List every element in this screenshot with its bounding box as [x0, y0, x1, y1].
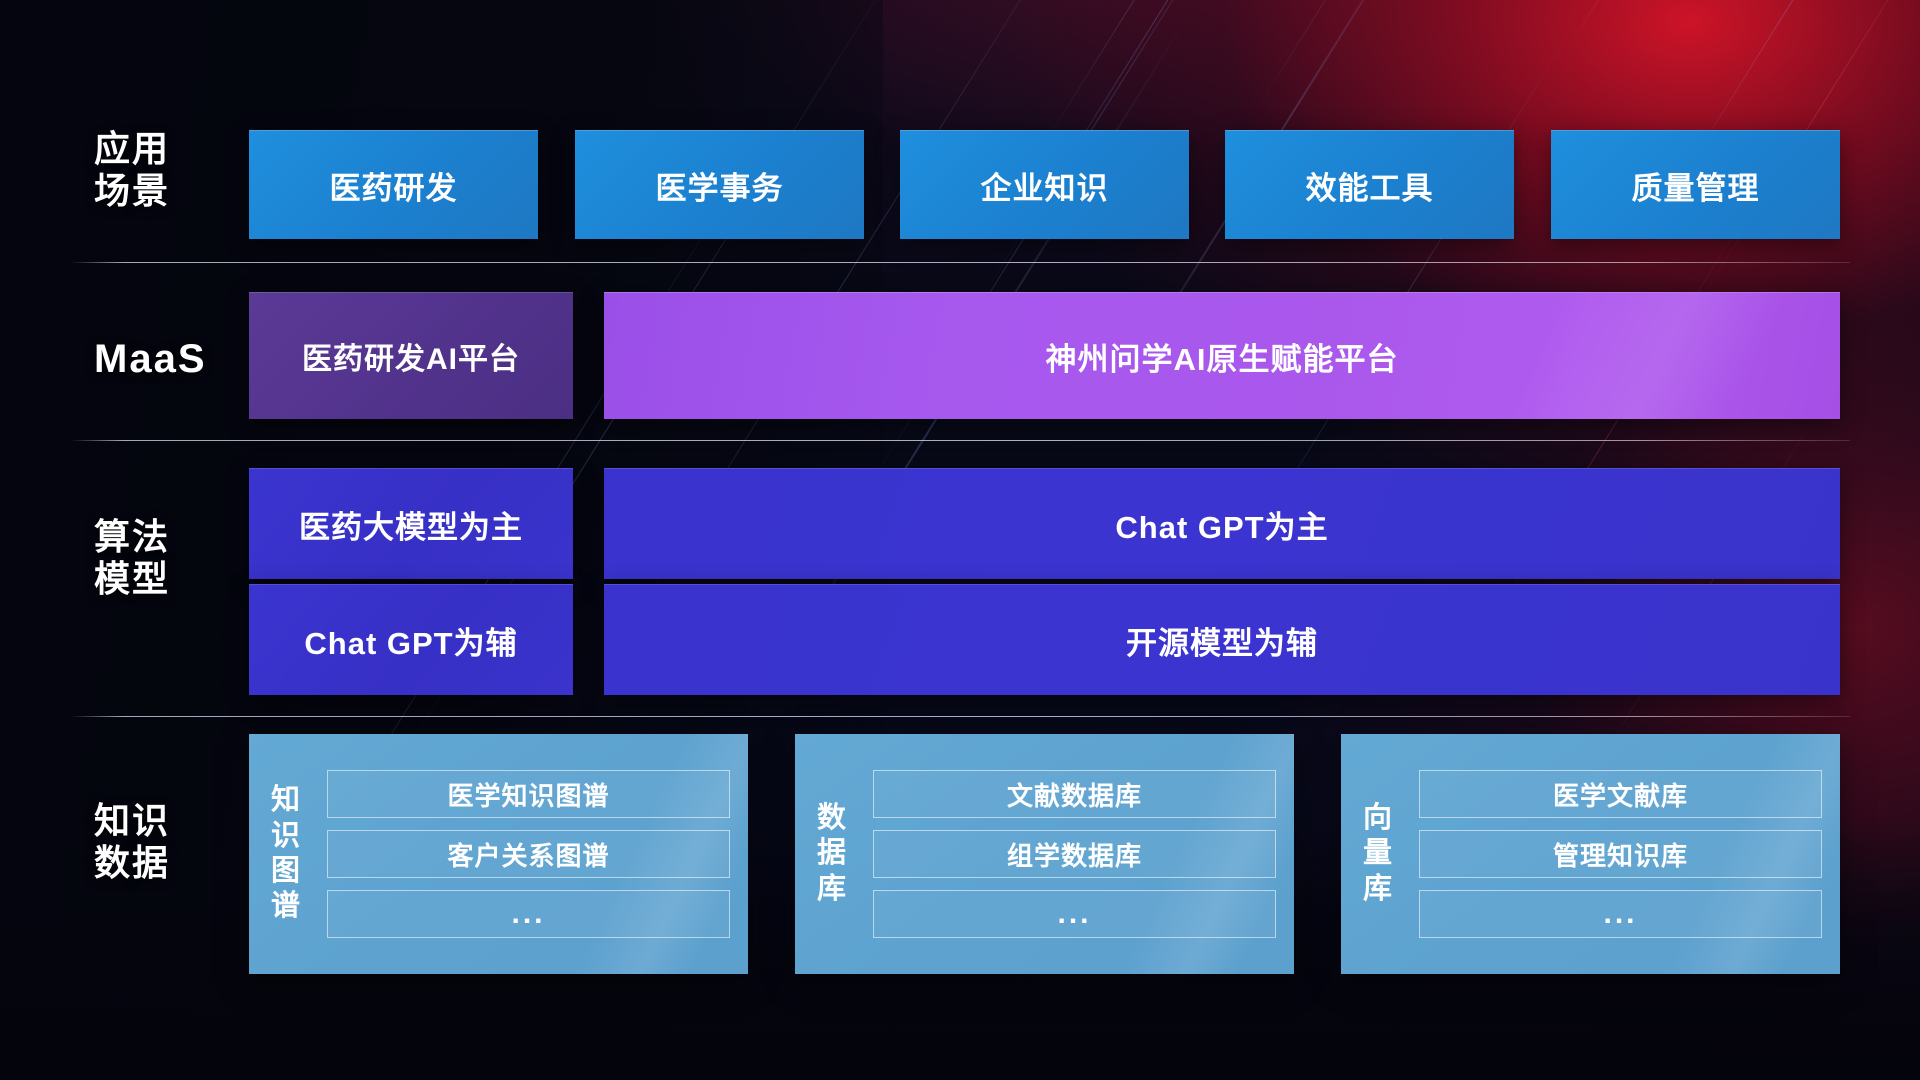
- algo-tile-primary-0[interactable]: 医药大模型为主: [249, 468, 573, 579]
- app-tile-2[interactable]: 企业知识: [900, 130, 1189, 239]
- knowledge-panel-1-item-0[interactable]: 文献数据库: [873, 770, 1276, 818]
- light-streak: [1040, 0, 1338, 151]
- knowledge-panel-database[interactable]: 数据库 文献数据库 组学数据库 ...: [795, 734, 1294, 974]
- divider-after-algorithm: [70, 716, 1850, 717]
- light-streak: [1250, 0, 1622, 121]
- algo-tile-secondary-0[interactable]: Chat GPT为辅: [249, 584, 573, 695]
- knowledge-panel-2-item-2-label: ...: [1603, 897, 1637, 931]
- knowledge-panel-1-items: 文献数据库 组学数据库 ...: [869, 734, 1294, 974]
- knowledge-panel-title-char: 据: [817, 836, 847, 871]
- knowledge-panel-2-title: 向量库: [1341, 734, 1415, 974]
- row-label-algorithm-models: 算法模型: [94, 516, 264, 601]
- knowledge-panel-1-item-2[interactable]: ...: [873, 890, 1276, 938]
- algo-tile-secondary-1[interactable]: 开源模型为辅: [604, 584, 1840, 695]
- algo-tile-primary-0-label: 医药大模型为主: [299, 502, 523, 547]
- algo-tile-secondary-1-label: 开源模型为辅: [1126, 618, 1318, 663]
- app-tile-1-label: 医学事务: [656, 163, 784, 208]
- knowledge-panel-2-item-0[interactable]: 医学文献库: [1419, 770, 1822, 818]
- light-streak: [1320, 0, 1798, 21]
- algo-tile-primary-1-label: Chat GPT为主: [1115, 502, 1328, 547]
- divider-after-application: [70, 262, 1850, 263]
- knowledge-panel-2-item-0-label: 医学文献库: [1553, 776, 1688, 813]
- row-label-line: 数据: [94, 842, 264, 884]
- row-label-line: 知识: [94, 800, 264, 842]
- knowledge-panel-0-item-0[interactable]: 医学知识图谱: [327, 770, 730, 818]
- knowledge-panel-1-title: 数据库: [795, 734, 869, 974]
- algo-tile-primary-1[interactable]: Chat GPT为主: [604, 468, 1840, 579]
- knowledge-panel-0-title: 知识图谱: [249, 734, 323, 974]
- app-tile-1[interactable]: 医学事务: [575, 130, 864, 239]
- knowledge-panel-title-char: 向: [1363, 801, 1393, 836]
- knowledge-panel-vector-store[interactable]: 向量库 医学文献库 管理知识库 ...: [1341, 734, 1840, 974]
- knowledge-panel-title-char: 图: [271, 854, 301, 889]
- app-tile-3-label: 效能工具: [1306, 163, 1434, 208]
- maas-tile-medical-ai-platform[interactable]: 医药研发AI平台: [249, 292, 573, 419]
- row-label-line: 算法: [94, 516, 264, 558]
- knowledge-panel-title-char: 识: [271, 819, 301, 854]
- knowledge-panel-2-items: 医学文献库 管理知识库 ...: [1415, 734, 1840, 974]
- knowledge-panel-1-item-0-label: 文献数据库: [1007, 776, 1142, 813]
- knowledge-panel-2-item-1-label: 管理知识库: [1553, 836, 1688, 873]
- row-label-line: 应用: [94, 128, 264, 170]
- algo-tile-secondary-0-label: Chat GPT为辅: [304, 618, 517, 663]
- knowledge-panel-2-item-2[interactable]: ...: [1419, 890, 1822, 938]
- knowledge-panel-knowledge-graph[interactable]: 知识图谱 医学知识图谱 客户关系图谱 ...: [249, 734, 748, 974]
- divider-after-maas: [70, 440, 1850, 441]
- app-tile-2-label: 企业知识: [981, 163, 1109, 208]
- knowledge-panel-title-char: 知: [271, 783, 301, 818]
- knowledge-panel-title-char: 数: [817, 801, 847, 836]
- app-tile-4-label: 质量管理: [1632, 163, 1760, 208]
- knowledge-panel-2-item-1[interactable]: 管理知识库: [1419, 830, 1822, 878]
- knowledge-panel-0-item-2-label: ...: [511, 897, 545, 931]
- app-tile-3[interactable]: 效能工具: [1225, 130, 1514, 239]
- maas-tile-1-label: 神州问学AI原生赋能平台: [1046, 334, 1399, 379]
- maas-tile-shenzhou-platform[interactable]: 神州问学AI原生赋能平台: [604, 292, 1840, 419]
- row-label-application-scenarios: 应用场景: [94, 128, 264, 213]
- knowledge-panel-0-item-0-label: 医学知识图谱: [447, 776, 609, 813]
- row-label-line: 场景: [94, 170, 264, 212]
- architecture-diagram: 应用场景 医药研发 医学事务 企业知识 效能工具 质量管理 MaaS 医药研发A…: [0, 0, 1920, 1080]
- row-label-line: 模型: [94, 558, 264, 600]
- knowledge-panel-title-char: 量: [1363, 836, 1393, 871]
- knowledge-panel-0-item-2[interactable]: ...: [327, 890, 730, 938]
- app-tile-4[interactable]: 质量管理: [1551, 130, 1840, 239]
- knowledge-panel-0-item-1[interactable]: 客户关系图谱: [327, 830, 730, 878]
- row-label-knowledge-data: 知识数据: [94, 800, 264, 885]
- knowledge-panel-title-char: 谱: [271, 889, 301, 924]
- knowledge-panel-0-items: 医学知识图谱 客户关系图谱 ...: [323, 734, 748, 974]
- knowledge-panel-1-item-1-label: 组学数据库: [1007, 836, 1142, 873]
- knowledge-panel-0-item-1-label: 客户关系图谱: [447, 836, 609, 873]
- knowledge-panel-title-char: 库: [817, 872, 847, 907]
- app-tile-0-label: 医药研发: [330, 163, 458, 208]
- knowledge-panel-1-item-1[interactable]: 组学数据库: [873, 830, 1276, 878]
- light-streak: [1600, 404, 1823, 761]
- knowledge-panel-1-item-2-label: ...: [1057, 897, 1091, 931]
- knowledge-panel-title-char: 库: [1363, 872, 1393, 907]
- maas-tile-0-label: 医药研发AI平台: [302, 334, 520, 378]
- app-tile-0[interactable]: 医药研发: [249, 130, 538, 239]
- light-streak: [1559, 0, 1836, 62]
